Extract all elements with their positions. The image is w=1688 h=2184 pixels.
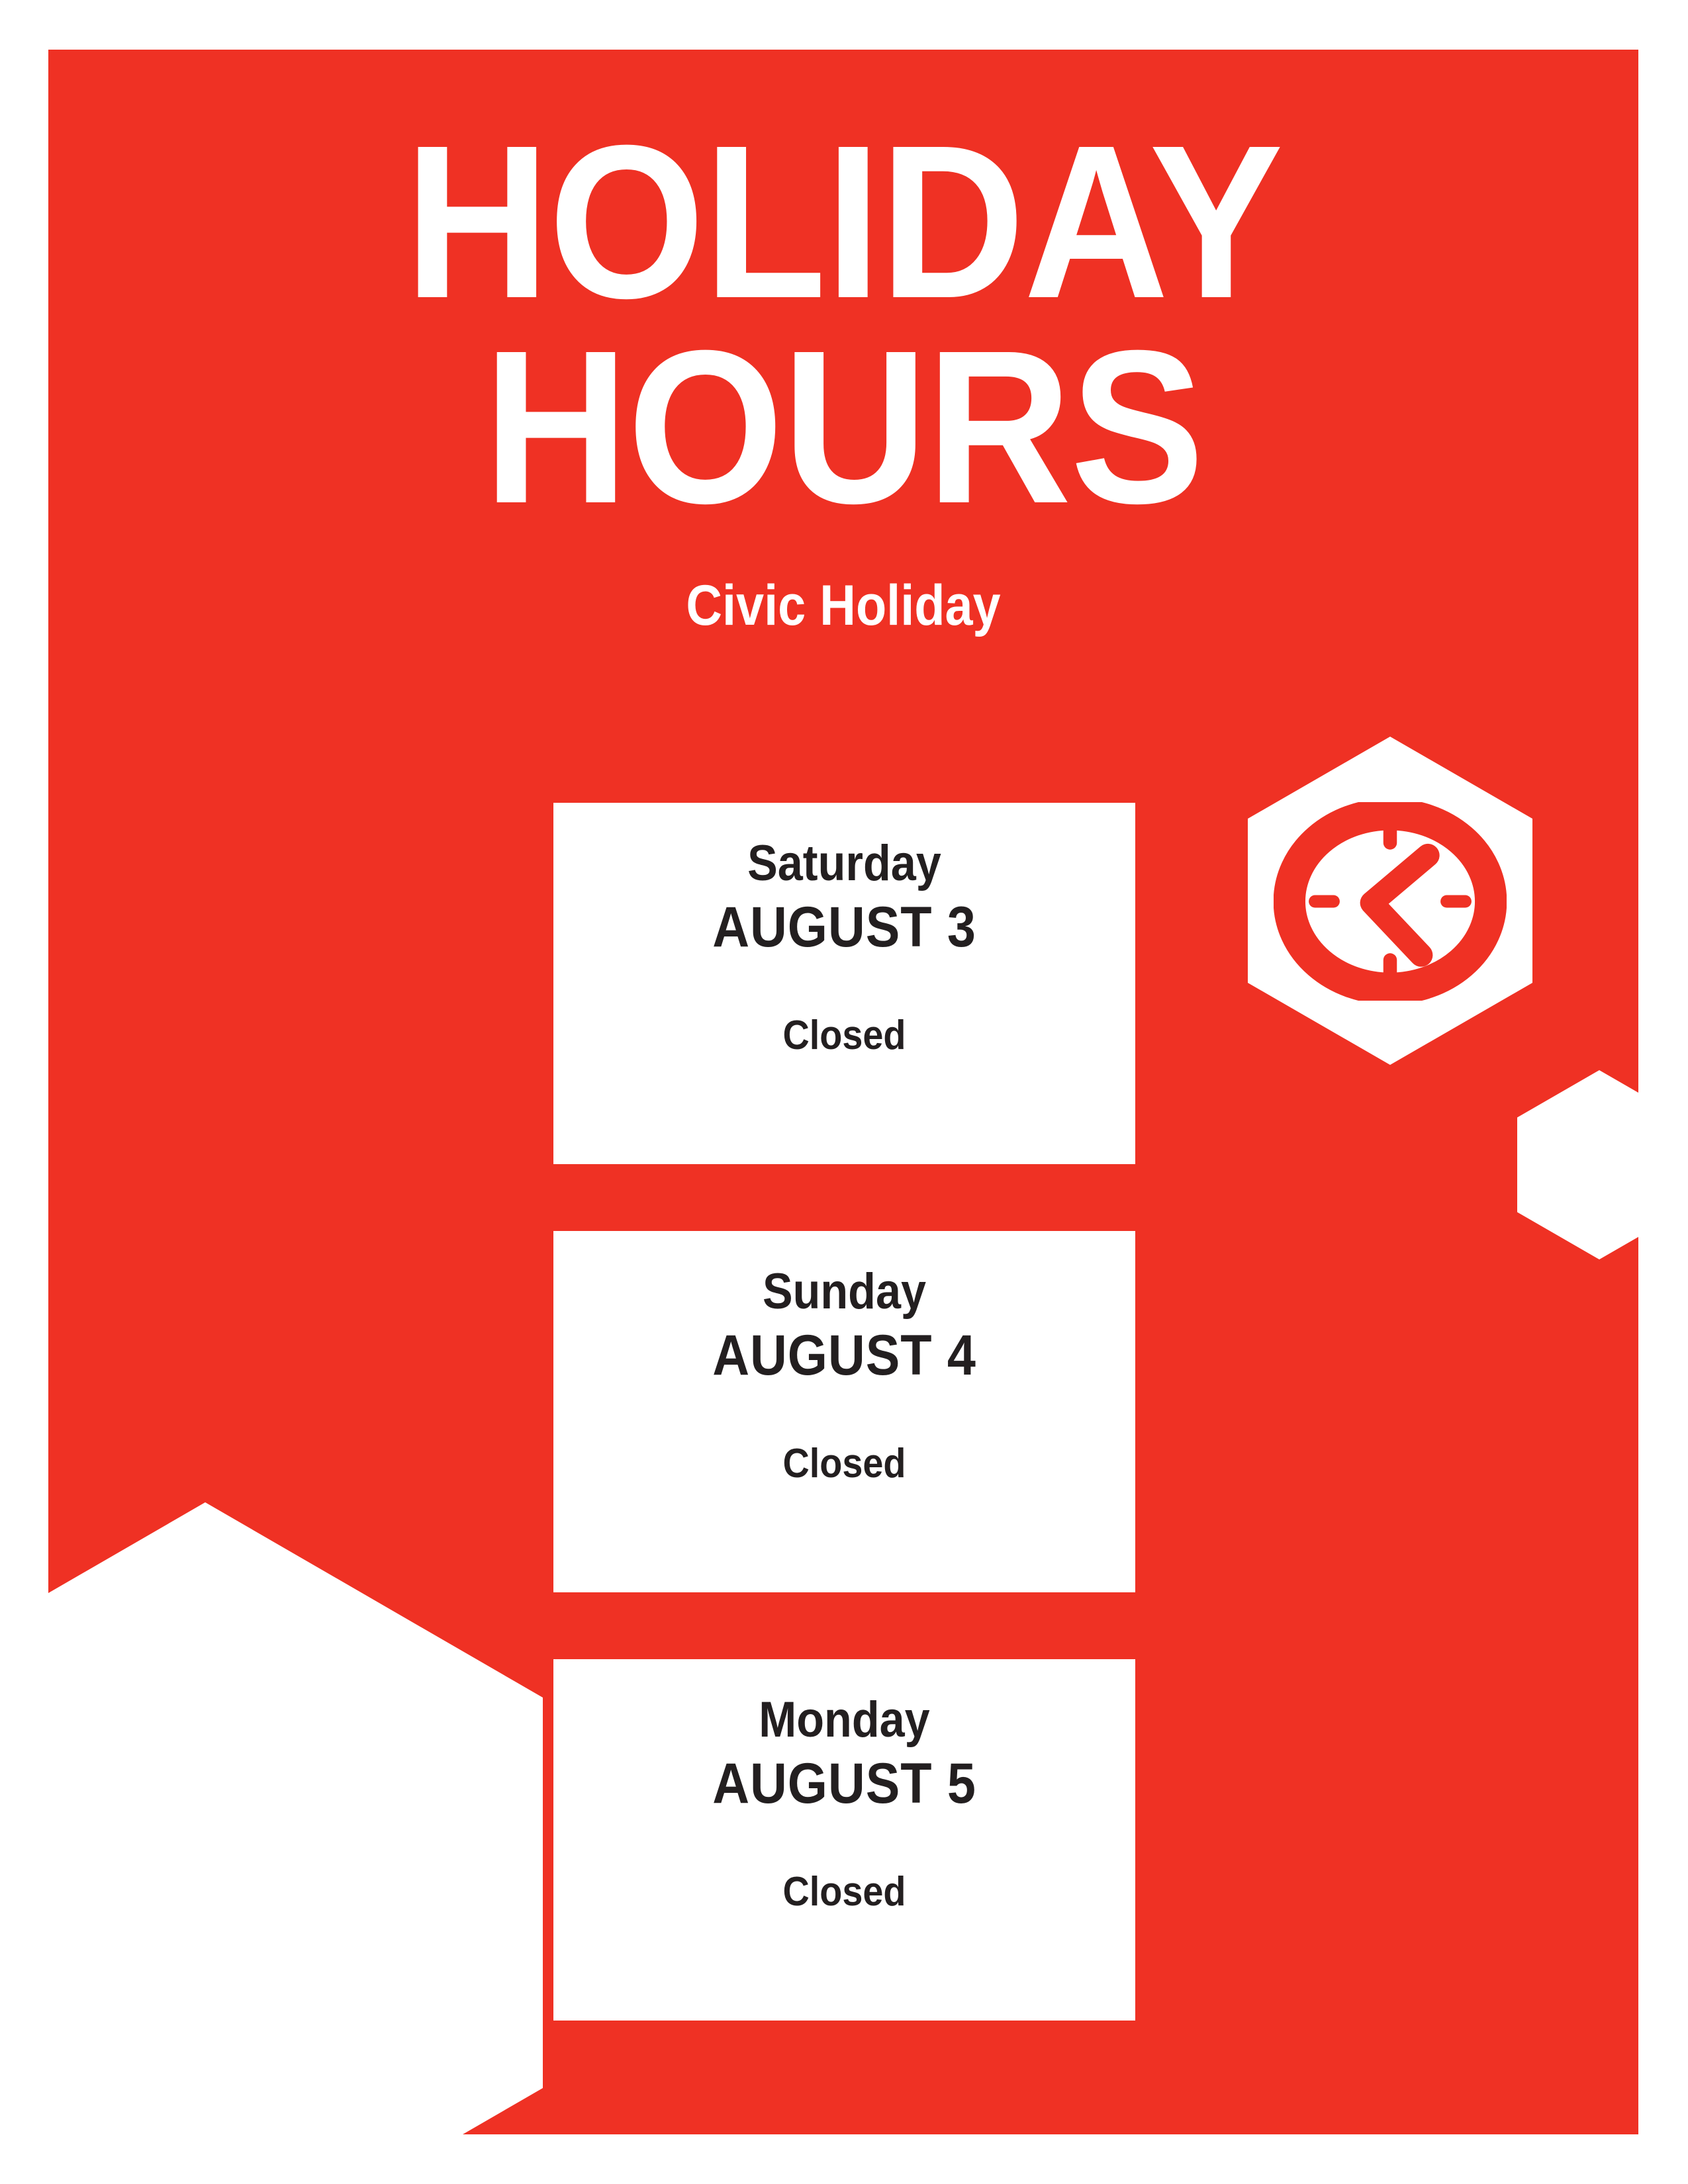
schedule-card: Monday AUGUST 5 Closed xyxy=(553,1659,1135,2021)
page-title-line-1: HOLIDAY xyxy=(112,119,1575,324)
schedule-card-list: Saturday AUGUST 3 Closed Sunday AUGUST 4… xyxy=(553,803,1135,2021)
page-title-line-2: HOURS xyxy=(112,324,1575,529)
schedule-card-date: AUGUST 5 xyxy=(583,1754,1106,1813)
poster-title-block: HOLIDAY HOURS Civic Holiday xyxy=(48,119,1638,634)
schedule-card-status: Closed xyxy=(583,1870,1106,1913)
schedule-card-day: Monday xyxy=(583,1694,1106,1747)
schedule-card-day: Saturday xyxy=(583,837,1106,891)
schedule-card-date: AUGUST 3 xyxy=(583,897,1106,957)
holiday-hours-poster: HOLIDAY HOURS Civic Holiday Saturday AUG… xyxy=(0,0,1688,2184)
schedule-card-status: Closed xyxy=(583,1442,1106,1485)
schedule-card-date: AUGUST 4 xyxy=(583,1326,1106,1385)
poster-subtitle: Civic Holiday xyxy=(144,577,1543,634)
schedule-card-status: Closed xyxy=(583,1014,1106,1057)
schedule-card: Saturday AUGUST 3 Closed xyxy=(553,803,1135,1164)
schedule-card-day: Sunday xyxy=(583,1265,1106,1319)
clock-icon xyxy=(1274,802,1507,1001)
schedule-card: Sunday AUGUST 4 Closed xyxy=(553,1231,1135,1592)
